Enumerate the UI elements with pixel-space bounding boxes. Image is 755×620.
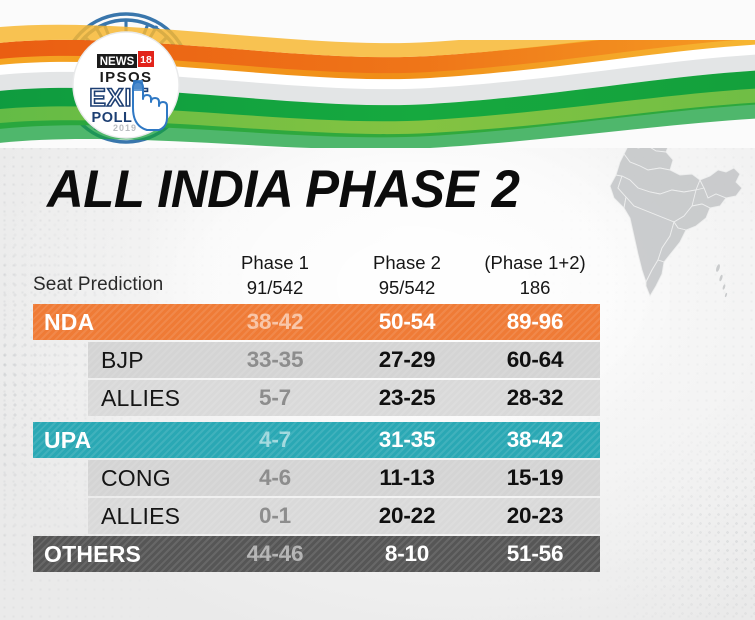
row-label-cong: CONG [101,460,171,496]
row-cong-total: 15-19 [450,460,620,496]
column-header-total: (Phase 1+2) 186 [450,250,620,300]
column-header-phase2-line1: Phase 2 [373,252,441,273]
row-label-nda: NDA [44,304,94,340]
table-row: UPA 4-7 31-35 38-42 [0,422,755,458]
page-title: ALL INDIA PHASE 2 [47,163,519,216]
table-row: CONG 4-6 11-13 15-19 [0,460,755,496]
row-label-header: Seat Prediction [33,274,163,296]
table-row: ALLIES 5-7 23-25 28-32 [0,380,755,416]
news-wordmark: NEWS [100,56,135,68]
table-row: NDA 38-42 50-54 89-96 [0,304,755,340]
row-label-others: OTHERS [44,536,141,572]
row-bjp-total: 60-64 [450,342,620,378]
row-nda-allies-total: 28-32 [450,380,620,416]
column-header-phase1-line1: Phase 1 [241,252,309,273]
seat-prediction-table: Seat Prediction Phase 1 91/542 Phase 2 9… [0,248,755,574]
exit-poll-finger-logo: NEWS 18 IPSOS EXIT POLL 2019 [71,30,181,140]
infographic-canvas: NEWS 18 IPSOS EXIT POLL 2019 ALL INDIA P… [0,0,755,620]
table-row: BJP 33-35 27-29 60-64 [0,342,755,378]
table-row: ALLIES 0-1 20-22 20-23 [0,498,755,534]
table-row: OTHERS 44-46 8-10 51-56 [0,536,755,572]
year-label: 2019 [113,123,137,133]
table-header: Seat Prediction Phase 1 91/542 Phase 2 9… [0,248,755,304]
row-label-upa: UPA [44,422,91,458]
row-upa-total: 38-42 [450,422,620,458]
row-label-upa-allies: ALLIES [101,498,180,534]
row-label-bjp: BJP [101,342,144,378]
row-upa-allies-total: 20-23 [450,498,620,534]
news18-badge: 18 [140,54,152,66]
column-header-total-line1: (Phase 1+2) [484,252,585,273]
row-nda-total: 89-96 [450,304,620,340]
row-others-total: 51-56 [450,536,620,572]
row-label-nda-allies: ALLIES [101,380,180,416]
column-header-total-line2: 186 [450,275,620,300]
